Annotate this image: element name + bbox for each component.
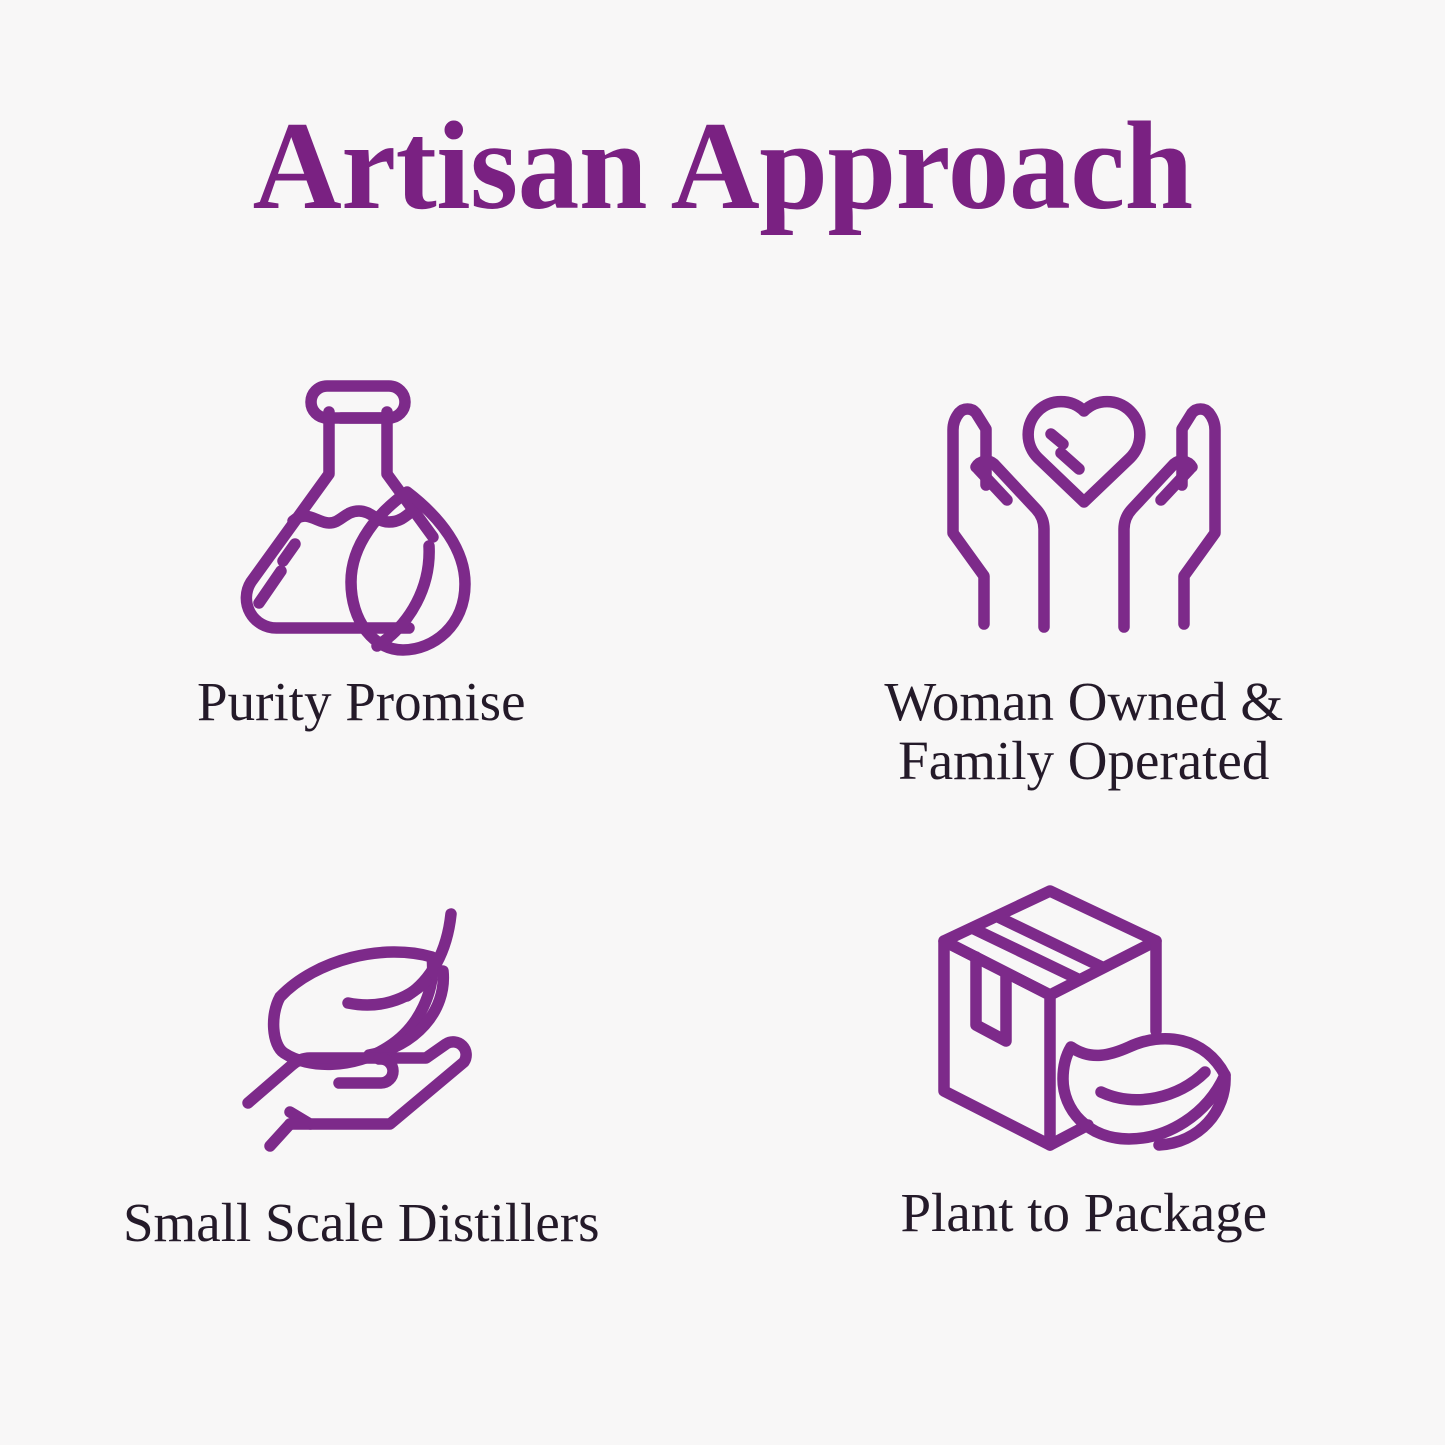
feature-label-plant-to-package: Plant to Package bbox=[900, 1183, 1267, 1242]
feature-grid: Purity Promise bbox=[0, 330, 1445, 1380]
feature-item-purity-promise: Purity Promise bbox=[0, 330, 723, 855]
package-box-leaf-icon bbox=[949, 873, 1219, 1153]
feature-label-purity-promise: Purity Promise bbox=[197, 672, 526, 731]
feature-label-woman-owned: Woman Owned & Family Operated bbox=[884, 672, 1283, 791]
feature-label-small-scale-distillers: Small Scale Distillers bbox=[123, 1193, 600, 1252]
flask-leaf-icon bbox=[211, 356, 511, 656]
feature-item-plant-to-package: Plant to Package bbox=[723, 855, 1445, 1380]
artisan-approach-graphic: Artisan Approach bbox=[0, 0, 1445, 1445]
feature-item-woman-owned: Woman Owned & Family Operated bbox=[723, 330, 1445, 855]
feature-item-small-scale-distillers: Small Scale Distillers bbox=[0, 855, 723, 1380]
page-title: Artisan Approach bbox=[252, 104, 1192, 230]
hands-holding-heart-icon bbox=[934, 356, 1234, 656]
hand-holding-leaf-icon bbox=[226, 883, 496, 1163]
page-title-container: Artisan Approach bbox=[0, 104, 1445, 230]
